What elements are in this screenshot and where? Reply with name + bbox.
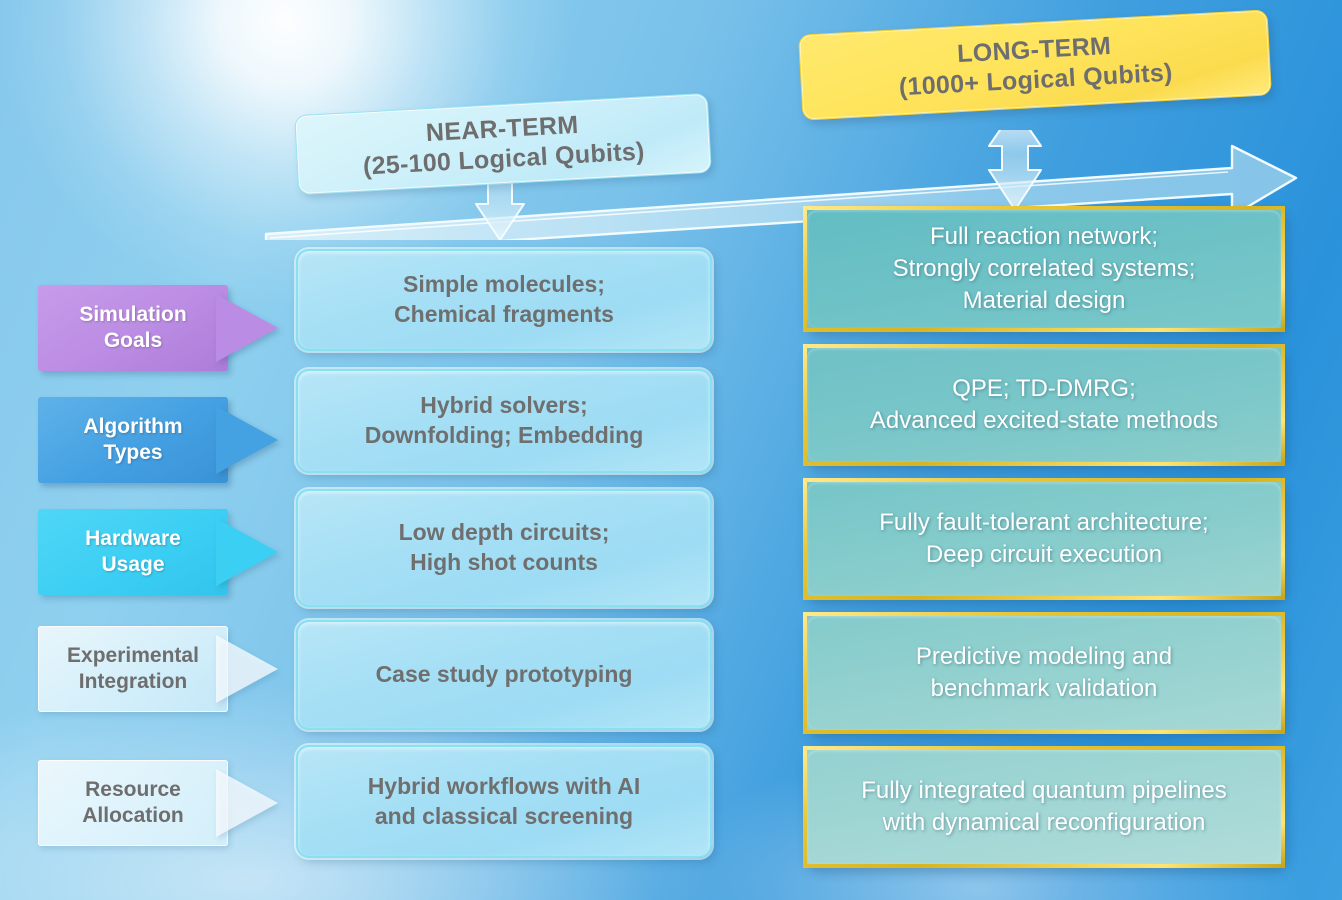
card-line1: Hybrid workflows with AI	[368, 772, 641, 802]
header-long-term-subtitle: (1000+ Logical Qubits)	[898, 58, 1173, 103]
long-term-card-hardware-usage[interactable]: Fully fault-tolerant architecture; Deep …	[803, 478, 1285, 600]
card-text: QPE; TD-DMRG; Advanced excited-state met…	[870, 373, 1218, 436]
category-label-line2: Usage	[101, 552, 164, 578]
long-term-card-experimental-integration[interactable]: Predictive modeling and benchmark valida…	[803, 612, 1285, 734]
card-line2: Advanced excited-state methods	[870, 405, 1218, 437]
near-term-card-experimental-integration[interactable]: Case study prototyping	[296, 620, 712, 730]
arrow-right-icon	[216, 294, 278, 362]
category-label-body: Algorithm Types	[38, 397, 228, 483]
card-text: Hybrid solvers; Downfolding; Embedding	[365, 391, 644, 451]
near-term-card-hardware-usage[interactable]: Low depth circuits; High shot counts	[296, 489, 712, 607]
category-label-line1: Algorithm	[83, 414, 182, 440]
card-line2: Strongly correlated systems;	[893, 253, 1196, 285]
header-near-term: NEAR-TERM (25-100 Logical Qubits)	[294, 93, 712, 195]
card-line2: Deep circuit execution	[879, 539, 1208, 571]
arrow-right-icon	[216, 406, 278, 474]
category-label-line2: Types	[103, 440, 162, 466]
card-line1: Case study prototyping	[376, 660, 633, 690]
near-term-card-simulation-goals[interactable]: Simple molecules; Chemical fragments	[296, 249, 712, 351]
card-line1: Simple molecules;	[394, 270, 614, 300]
card-line1: Predictive modeling and	[916, 641, 1172, 673]
category-label-hardware-usage[interactable]: Hardware Usage	[38, 509, 280, 595]
card-line2: and classical screening	[368, 802, 641, 832]
card-text: Full reaction network; Strongly correlat…	[893, 221, 1196, 316]
near-term-card-algorithm-types[interactable]: Hybrid solvers; Downfolding; Embedding	[296, 369, 712, 473]
card-line2: with dynamical reconfiguration	[861, 807, 1227, 839]
category-label-simulation-goals[interactable]: Simulation Goals	[38, 285, 280, 371]
header-near-term-subtitle: (25-100 Logical Qubits)	[362, 136, 645, 182]
card-text: Hybrid workflows with AI and classical s…	[368, 772, 641, 832]
category-label-line2: Allocation	[82, 803, 184, 829]
card-line1: QPE; TD-DMRG;	[870, 373, 1218, 405]
near-term-card-resource-allocation[interactable]: Hybrid workflows with AI and classical s…	[296, 745, 712, 858]
card-line2: High shot counts	[399, 548, 610, 578]
category-label-resource-allocation[interactable]: Resource Allocation	[38, 760, 280, 846]
infographic-canvas: NEAR-TERM (25-100 Logical Qubits) LONG-T…	[0, 0, 1342, 900]
card-line1: Hybrid solvers;	[365, 391, 644, 421]
card-line1: Fully integrated quantum pipelines	[861, 775, 1227, 807]
category-label-body: Simulation Goals	[38, 285, 228, 371]
category-label-line1: Experimental	[67, 643, 199, 669]
card-text: Fully integrated quantum pipelines with …	[861, 775, 1227, 838]
category-label-line2: Goals	[104, 328, 162, 354]
card-line2: Downfolding; Embedding	[365, 421, 644, 451]
category-label-body: Resource Allocation	[38, 760, 228, 846]
card-line1: Fully fault-tolerant architecture;	[879, 507, 1208, 539]
card-line2: Chemical fragments	[394, 300, 614, 330]
card-line2: benchmark validation	[916, 673, 1172, 705]
connector-long-term	[989, 130, 1041, 210]
arrow-right-icon	[216, 769, 278, 837]
header-long-term: LONG-TERM (1000+ Logical Qubits)	[798, 9, 1272, 120]
card-text: Case study prototyping	[376, 660, 633, 690]
category-label-experimental-integration[interactable]: Experimental Integration	[38, 626, 280, 712]
category-label-algorithm-types[interactable]: Algorithm Types	[38, 397, 280, 483]
card-text: Low depth circuits; High shot counts	[399, 518, 610, 578]
category-label-body: Experimental Integration	[38, 626, 228, 712]
category-label-line1: Resource	[85, 777, 181, 803]
category-label-body: Hardware Usage	[38, 509, 228, 595]
long-term-card-algorithm-types[interactable]: QPE; TD-DMRG; Advanced excited-state met…	[803, 344, 1285, 466]
card-line1: Full reaction network;	[893, 221, 1196, 253]
long-term-card-resource-allocation[interactable]: Fully integrated quantum pipelines with …	[803, 746, 1285, 868]
card-text: Simple molecules; Chemical fragments	[394, 270, 614, 330]
arrow-right-icon	[216, 518, 278, 586]
category-label-line1: Simulation	[79, 302, 186, 328]
arrow-right-icon	[216, 635, 278, 703]
card-text: Fully fault-tolerant architecture; Deep …	[879, 507, 1208, 570]
card-text: Predictive modeling and benchmark valida…	[916, 641, 1172, 704]
category-label-line1: Hardware	[85, 526, 181, 552]
category-label-line2: Integration	[79, 669, 188, 695]
card-line1: Low depth circuits;	[399, 518, 610, 548]
card-line3: Material design	[893, 285, 1196, 317]
long-term-card-simulation-goals[interactable]: Full reaction network; Strongly correlat…	[803, 206, 1285, 332]
